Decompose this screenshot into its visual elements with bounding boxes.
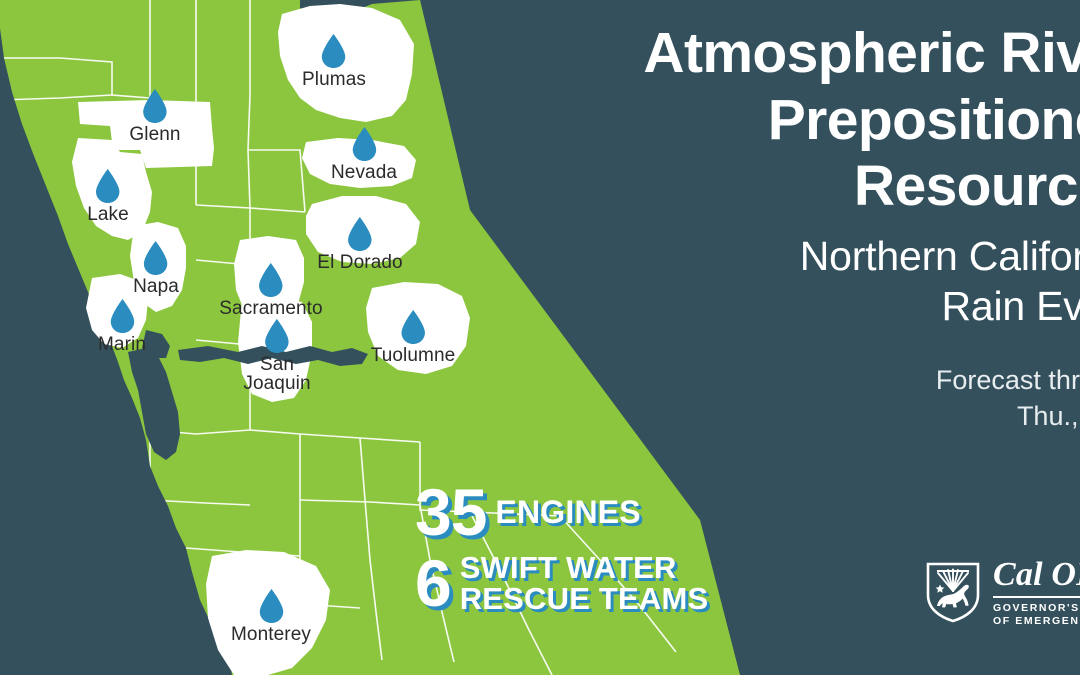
logo-subtitle-line-1: GOVERNOR'S OFFICE bbox=[993, 602, 1080, 615]
logo-subtitle-line-2: OF EMERGENCY SERVICES bbox=[993, 615, 1080, 628]
title-line-2: Prepositioned bbox=[510, 87, 1080, 154]
stat-swift-water-number: 6 bbox=[415, 551, 451, 616]
water-droplet-icon bbox=[321, 33, 348, 69]
county-label: Tuolumne bbox=[371, 346, 456, 365]
county-marker: El Dorado bbox=[317, 216, 402, 272]
county-marker: Lake bbox=[87, 168, 129, 224]
water-droplet-icon bbox=[108, 298, 135, 334]
subtitle-line-2: Rain Event bbox=[510, 281, 1080, 331]
stat-swift-water: 6 SWIFT WATER RESCUE TEAMS bbox=[415, 551, 815, 616]
county-label: Monterey bbox=[231, 625, 311, 644]
subtitle: Northern California Rain Event bbox=[510, 231, 1080, 332]
cal-oes-logo-text: Cal OES GOVERNOR'S OFFICE OF EMERGENCY S… bbox=[993, 558, 1080, 628]
county-label: San Joaquin bbox=[243, 355, 310, 394]
water-droplet-icon bbox=[351, 126, 378, 162]
county-label: El Dorado bbox=[317, 253, 402, 272]
county-marker: Nevada bbox=[331, 126, 397, 182]
county-marker: Plumas bbox=[302, 33, 366, 89]
water-droplet-icon bbox=[257, 588, 284, 624]
stat-engines-label: ENGINES bbox=[495, 497, 640, 528]
county-marker: Glenn bbox=[129, 88, 180, 144]
stat-engines: 35 ENGINES bbox=[415, 480, 815, 545]
page-title: Atmospheric River Prepositioned Resource… bbox=[510, 20, 1080, 220]
county-label: Marin bbox=[98, 335, 146, 354]
county-marker: Napa bbox=[133, 240, 179, 296]
forecast-note: Forecast through Thu., Feb. bbox=[510, 362, 1080, 434]
title-line-3: Resources bbox=[510, 153, 1080, 220]
county-label: Napa bbox=[133, 277, 179, 296]
county-marker: Marin bbox=[98, 298, 146, 354]
water-droplet-icon bbox=[142, 240, 169, 276]
county-label: Glenn bbox=[129, 125, 180, 144]
headline-panel: Atmospheric River Prepositioned Resource… bbox=[510, 20, 1080, 434]
county-label: Plumas bbox=[302, 70, 366, 89]
water-droplet-icon bbox=[141, 88, 168, 124]
subtitle-line-1: Northern California bbox=[510, 231, 1080, 281]
statistics-block: 35 ENGINES 6 SWIFT WATER RESCUE TEAMS bbox=[415, 480, 815, 617]
county-marker: San Joaquin bbox=[243, 318, 310, 394]
county-marker: Tuolumne bbox=[371, 309, 456, 365]
stat-swift-water-label: SWIFT WATER RESCUE TEAMS bbox=[460, 552, 709, 614]
forecast-line-2: Thu., Feb. bbox=[510, 398, 1080, 434]
water-droplet-icon bbox=[346, 216, 373, 252]
water-droplet-icon bbox=[257, 262, 284, 298]
infographic-poster: PlumasGlennNevadaLakeEl DoradoNapaSacram… bbox=[0, 0, 1080, 675]
water-droplet-icon bbox=[400, 309, 427, 345]
title-line-1: Atmospheric River bbox=[510, 20, 1080, 87]
forecast-line-1: Forecast through bbox=[510, 362, 1080, 398]
county-marker: Sacramento bbox=[219, 262, 322, 318]
cal-oes-shield-icon bbox=[925, 561, 981, 623]
stat-engines-number: 35 bbox=[415, 480, 486, 545]
cal-oes-wordmark: Cal OES bbox=[993, 558, 1080, 592]
county-marker: Monterey bbox=[231, 588, 311, 644]
logo-divider bbox=[993, 596, 1080, 598]
water-droplet-icon bbox=[263, 318, 290, 354]
county-label: Sacramento bbox=[219, 299, 322, 318]
county-label: Lake bbox=[87, 205, 129, 224]
cal-oes-logo: Cal OES GOVERNOR'S OFFICE OF EMERGENCY S… bbox=[925, 556, 1080, 628]
water-droplet-icon bbox=[94, 168, 121, 204]
county-label: Nevada bbox=[331, 163, 397, 182]
